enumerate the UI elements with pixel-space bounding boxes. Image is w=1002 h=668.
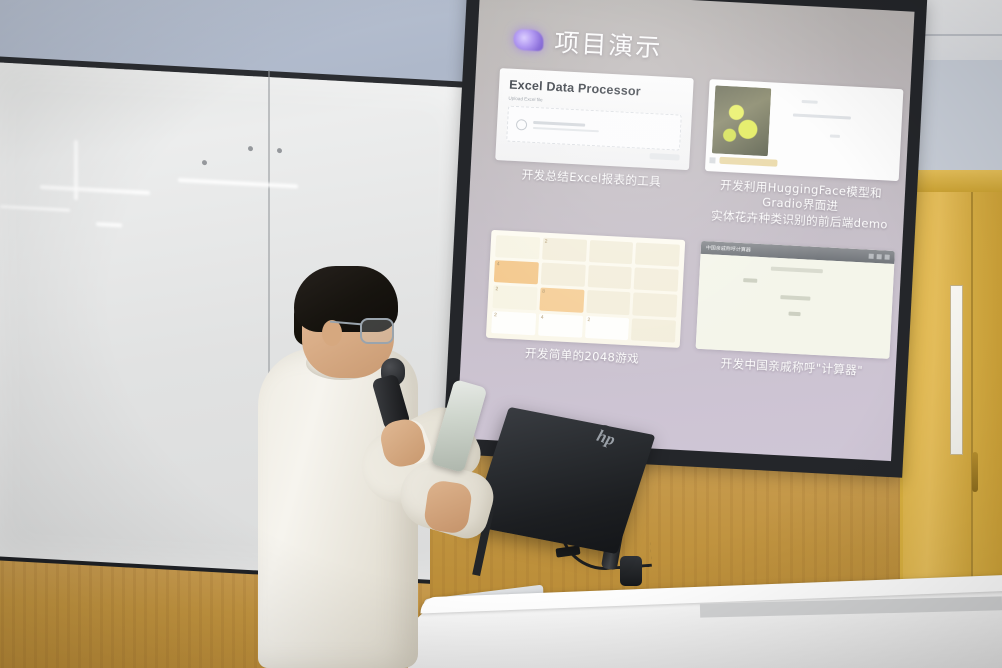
- card-kinship-calculator[interactable]: 中国亲戚称呼计算器: [695, 241, 895, 380]
- slide-title: 项目演示: [554, 23, 664, 65]
- dropzone-secondary-line: [533, 127, 599, 132]
- game-tile: [635, 242, 680, 267]
- maximize-icon[interactable]: [877, 254, 882, 259]
- slide-surface: 项目演示 Excel Data Processor Upload Excel f…: [457, 0, 915, 461]
- window-title: 中国亲戚称呼计算器: [706, 244, 751, 253]
- slide-header: 项目演示: [513, 21, 664, 65]
- card-row-bottom: 2 4 2 8 2: [485, 230, 895, 380]
- minimize-icon[interactable]: [869, 253, 874, 258]
- card-row-top: Excel Data Processor Upload Excel file: [492, 68, 903, 233]
- flower-photo: [712, 85, 771, 156]
- card-caption: 开发中国亲戚称呼"计算器": [695, 355, 890, 380]
- result-score-line: [830, 134, 840, 138]
- game-tile: 4: [494, 260, 539, 285]
- excel-app-screenshot: Excel Data Processor Upload Excel file: [495, 68, 694, 170]
- flower-app-screenshot: [705, 79, 904, 181]
- door-window: [950, 285, 963, 455]
- game-tile: [631, 318, 676, 343]
- game-tile: [634, 268, 679, 293]
- game-2048-board: 2 4 2 8 2: [486, 230, 685, 348]
- form-prompt-line: [771, 266, 823, 273]
- game-tile: [588, 240, 633, 265]
- whiteboard-glare: [74, 140, 78, 200]
- screen-frame: 项目演示 Excel Data Processor Upload Excel f…: [443, 0, 927, 478]
- form-input-line[interactable]: [743, 278, 757, 283]
- game-tile: [586, 290, 631, 315]
- game-tile: 2: [542, 237, 587, 262]
- project-card-grid: Excel Data Processor Upload Excel file: [485, 68, 904, 379]
- game-tile: [633, 293, 678, 318]
- glasses-icon: [360, 318, 394, 344]
- projection-screen: 项目演示 Excel Data Processor Upload Excel f…: [443, 0, 927, 478]
- upload-indicator-icon: [709, 157, 715, 163]
- game-tile: [540, 263, 585, 288]
- cloud-upload-icon: [516, 119, 528, 131]
- dropzone-primary-line: [533, 121, 585, 127]
- game-tile: 8: [539, 288, 584, 313]
- flower-caption-bar: [719, 157, 777, 167]
- close-icon[interactable]: [885, 254, 890, 259]
- card-excel-data-processor[interactable]: Excel Data Processor Upload Excel file: [492, 68, 693, 222]
- presenter: [250, 270, 500, 668]
- game-tile: 2: [585, 315, 630, 340]
- window-controls[interactable]: [869, 253, 890, 259]
- card-caption: 开发总结Excel报表的工具: [494, 166, 689, 191]
- result-label-line: [802, 100, 818, 104]
- form-submit-line[interactable]: [788, 311, 800, 316]
- browse-files-button[interactable]: [649, 153, 679, 161]
- whiteboard-screw: [248, 146, 253, 151]
- kinship-form-body: [696, 254, 895, 359]
- whiteboard-screw: [277, 148, 282, 153]
- kinship-app-screenshot: 中国亲戚称呼计算器: [696, 241, 895, 359]
- classification-result-pane: [774, 89, 897, 175]
- result-value-line: [793, 113, 851, 119]
- dropzone-text: [533, 121, 599, 132]
- classroom-scene: 项目演示 Excel Data Processor Upload Excel f…: [0, 0, 1002, 668]
- form-result-line: [780, 295, 810, 301]
- presenter-ear: [322, 320, 342, 346]
- game-tile: [587, 265, 632, 290]
- card-caption: 开发简单的2048游戏: [485, 344, 680, 369]
- card-flower-classifier[interactable]: 开发利用HuggingFace模型和Gradio界面进 实体花卉种类识别的前后端…: [702, 79, 903, 233]
- purple-blob-logo-icon: [513, 28, 544, 51]
- card-game-2048[interactable]: 2 4 2 8 2: [485, 230, 685, 369]
- monitor-arm-joint: [620, 556, 642, 586]
- door-handle[interactable]: [972, 452, 978, 492]
- whiteboard-screw: [202, 160, 207, 165]
- game-tile: 4: [538, 313, 583, 338]
- game-tile: [495, 235, 540, 260]
